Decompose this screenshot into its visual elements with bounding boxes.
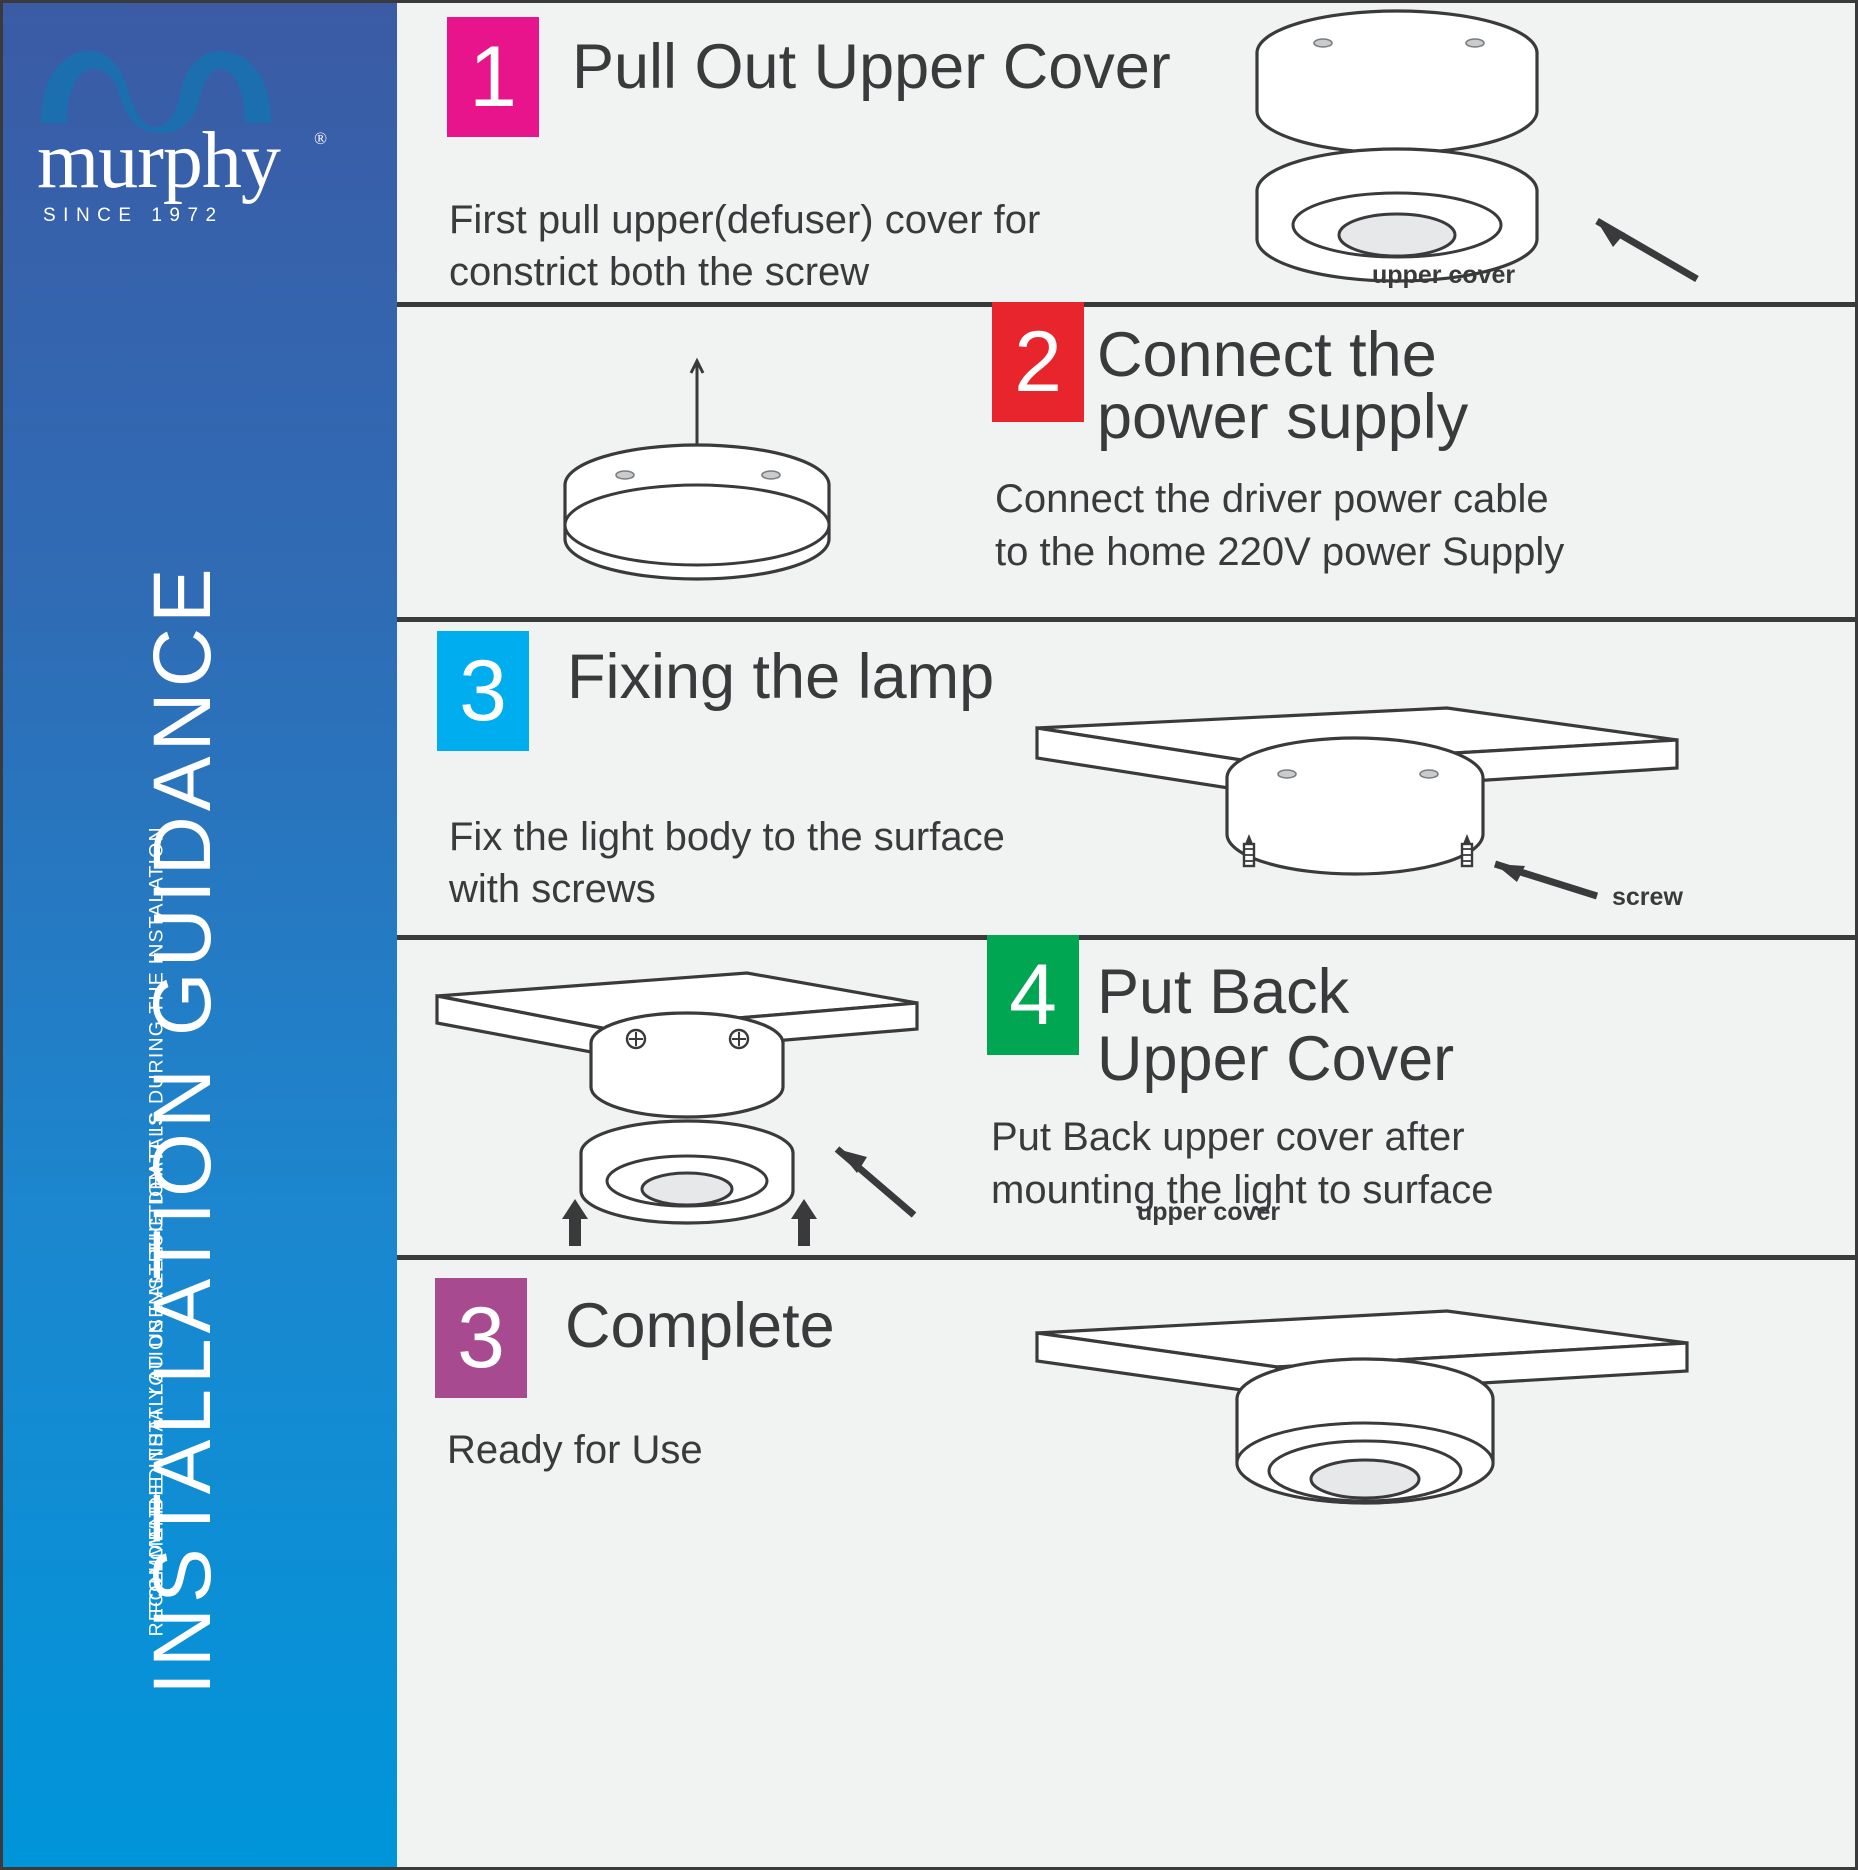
- step-5-badge: 3: [435, 1278, 527, 1398]
- up-arrow-right-icon: [791, 1199, 817, 1246]
- step-3-badge: 3: [437, 631, 529, 751]
- screw-callout: screw: [1612, 883, 1683, 912]
- upper-cover-callout-step4: upper cover: [1137, 1198, 1280, 1227]
- upper-cover-callout: upper cover: [1372, 261, 1515, 290]
- brand-sidebar: murphy ® SINCE 1972 INSTALLATION GUIDANC…: [3, 3, 397, 1867]
- vertical-text-block: INSTALLATION GUIDANCE FOLLOW THE INSTALL…: [3, 3, 397, 1867]
- step-3-title: Fixing the lamp: [567, 643, 994, 711]
- step-4-title-line-1: Put Back: [1097, 958, 1349, 1026]
- step-4-badge: 4: [987, 935, 1079, 1055]
- step-3-illustration: [977, 668, 1717, 958]
- step-5-title: Complete: [565, 1292, 835, 1360]
- step-2-illustration: [457, 353, 937, 603]
- step-1-title: Pull Out Upper Cover: [572, 33, 1171, 101]
- step-5-desc-line-1: Ready for Use: [447, 1421, 703, 1479]
- step-2-badge: 2: [992, 302, 1084, 422]
- step-divider-1: [397, 302, 1855, 307]
- sidebar-note-line-2: RECOMMENDED THAT YOU USE ALL THE DEATALS…: [146, 357, 169, 1637]
- step-2-desc-line-1: Connect the driver power cable: [995, 470, 1549, 528]
- step-2-desc-line-2: to the home 220V power Supply: [995, 523, 1564, 581]
- step-2-title-line-1: Connect the: [1097, 321, 1437, 389]
- step-1-badge: 1: [447, 17, 539, 137]
- step-2-title-line-2: power supply: [1097, 383, 1468, 451]
- installation-guidance-poster: murphy ® SINCE 1972 INSTALLATION GUIDANC…: [0, 0, 1858, 1870]
- step-divider-2: [397, 617, 1855, 622]
- step-divider-3: [397, 935, 1855, 940]
- step-3-desc-line-1: Fix the light body to the surface: [449, 808, 1005, 866]
- step-3-desc-line-2: with screws: [449, 860, 656, 918]
- step-4-illustration: [417, 951, 977, 1251]
- up-arrow-left-icon: [562, 1199, 588, 1246]
- steps-container: 1 Pull Out Upper Cover First pull upper(…: [397, 3, 1855, 1867]
- step-4-title-line-2: Upper Cover: [1097, 1025, 1454, 1093]
- step-1-illustration: [1157, 11, 1717, 301]
- step-1-desc-line-1: First pull upper(defuser) cover for: [449, 191, 1040, 249]
- step-1-desc-line-2: constrict both the screw: [449, 243, 869, 301]
- step-4-desc-line-1: Put Back upper cover after: [991, 1108, 1465, 1166]
- step-divider-4: [397, 1255, 1855, 1260]
- step-5-illustration: [997, 1293, 1717, 1603]
